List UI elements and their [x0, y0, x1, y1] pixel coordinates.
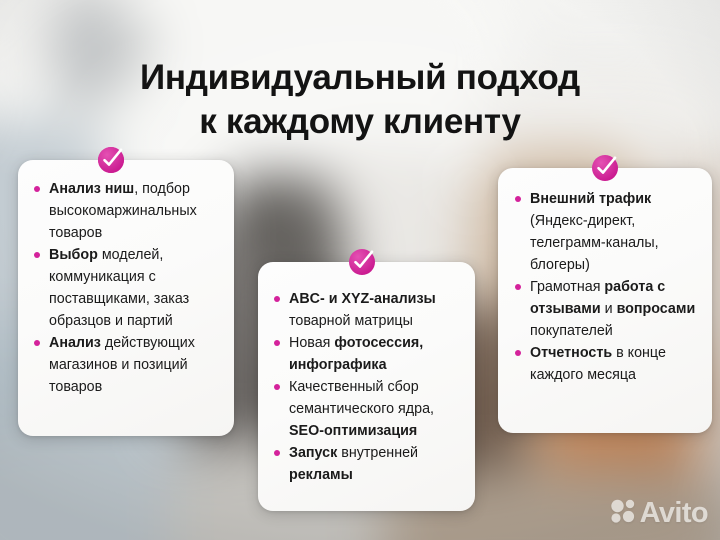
- list-item: Анализ действующих магазинов и позиций т…: [34, 332, 224, 398]
- promo-banner: Индивидуальный подход к каждому клиенту …: [0, 0, 720, 540]
- benefit-list-left: Анализ ниш, подбор высокомаржинальных то…: [34, 178, 224, 398]
- check-circle-icon: [591, 154, 619, 182]
- benefit-card-right: Внешний трафик (Яндекс-директ, телеграмм…: [498, 168, 712, 433]
- list-item: Запуск внутренней рекламы: [274, 442, 467, 486]
- list-item: Грамотная работа с отзывами и вопросами …: [515, 276, 704, 342]
- check-circle-icon: [348, 248, 376, 276]
- benefit-card-left: Анализ ниш, подбор высокомаржинальных то…: [18, 160, 234, 436]
- list-item: Отчетность в конце каждого месяца: [515, 342, 704, 386]
- title-line-1: Индивидуальный подход: [0, 56, 720, 100]
- list-item: ABC- и XYZ-анализы товарной матрицы: [274, 288, 467, 332]
- benefit-list-center: ABC- и XYZ-анализы товарной матрицы Нова…: [274, 288, 467, 486]
- list-item: Качественный сбор семантического ядра, S…: [274, 376, 467, 442]
- benefit-list-right: Внешний трафик (Яндекс-директ, телеграмм…: [515, 188, 704, 386]
- list-item: Внешний трафик (Яндекс-директ, телеграмм…: [515, 188, 704, 276]
- page-title: Индивидуальный подход к каждому клиенту: [0, 56, 720, 144]
- avito-wordmark: Avito: [640, 499, 708, 528]
- avito-watermark: Avito: [610, 499, 708, 528]
- title-line-2: к каждому клиенту: [0, 100, 720, 144]
- check-circle-icon: [97, 146, 125, 174]
- list-item: Выбор моделей, коммуникация с поставщика…: [34, 244, 224, 332]
- list-item: Анализ ниш, подбор высокомаржинальных то…: [34, 178, 224, 244]
- list-item: Новая фотосессия, инфографика: [274, 332, 467, 376]
- benefit-card-center: ABC- и XYZ-анализы товарной матрицы Нова…: [258, 262, 475, 511]
- avito-dots-icon: [610, 499, 636, 528]
